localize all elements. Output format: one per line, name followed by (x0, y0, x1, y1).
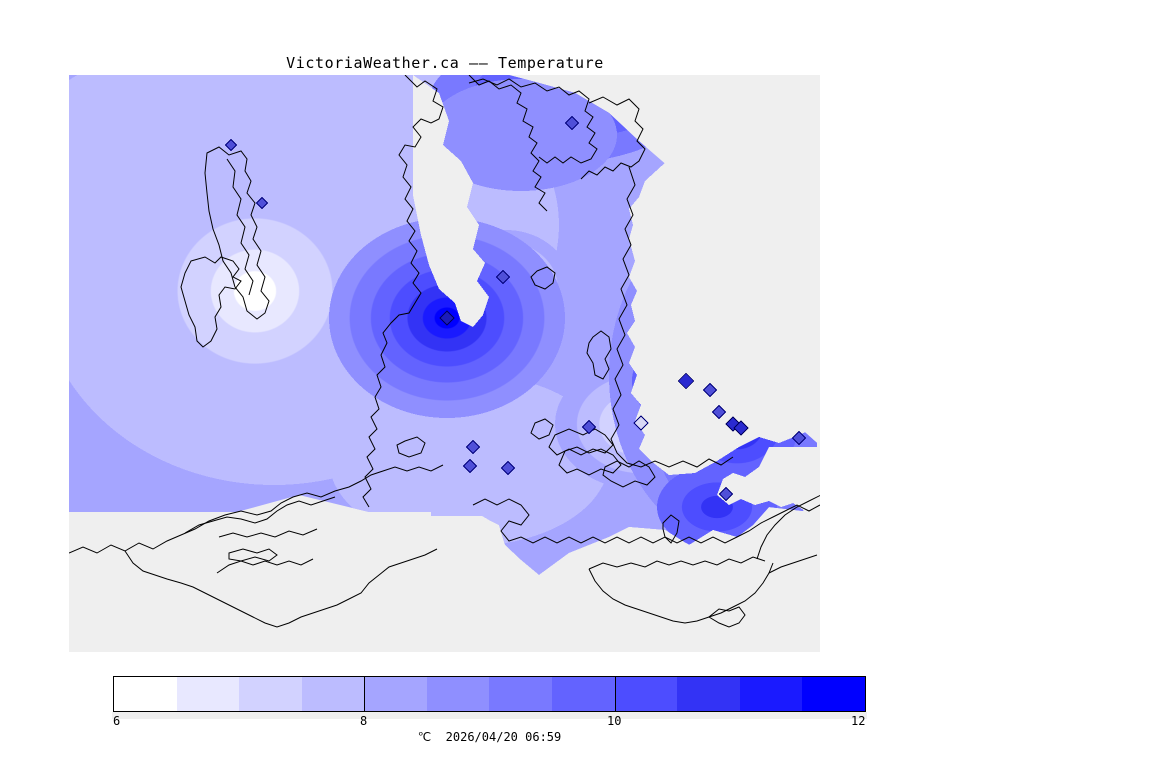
colorbar-label-10: 10 (607, 714, 621, 728)
colorbar-tick-8 (364, 676, 365, 712)
weather-map-page: VictoriaWeather.ca —— Temperature (0, 0, 1152, 768)
colorbar-band-7 (552, 677, 615, 711)
colorbar-units-label: ℃ 2026/04/20 06:59 (113, 730, 866, 744)
colorbar-band-1 (177, 677, 240, 711)
colorbar-band-10 (740, 677, 803, 711)
page-title: VictoriaWeather.ca —— Temperature (0, 54, 890, 72)
temperature-contour-map[interactable] (69, 75, 820, 652)
colorbar-band-8 (615, 677, 678, 711)
colorbar-band-6 (489, 677, 552, 711)
colorbar-band-4 (364, 677, 427, 711)
colorbar-band-0 (114, 677, 177, 711)
colorbar-band-5 (427, 677, 490, 711)
colorbar-band-2 (239, 677, 302, 711)
colorbar-label-max: 12 (851, 714, 865, 728)
colorbar-band-9 (677, 677, 740, 711)
colorbar-bands (113, 676, 866, 712)
colorbar-underline (112, 712, 867, 719)
colorbar-label-min: 6 (113, 714, 120, 728)
colorbar-band-3 (302, 677, 365, 711)
colorbar-label-8: 8 (360, 714, 367, 728)
map-panel[interactable] (69, 75, 820, 652)
colorbar: 6 8 10 12 ℃ 2026/04/20 06:59 (113, 676, 866, 712)
colorbar-tick-10 (615, 676, 616, 712)
colorbar-band-11 (802, 677, 865, 711)
